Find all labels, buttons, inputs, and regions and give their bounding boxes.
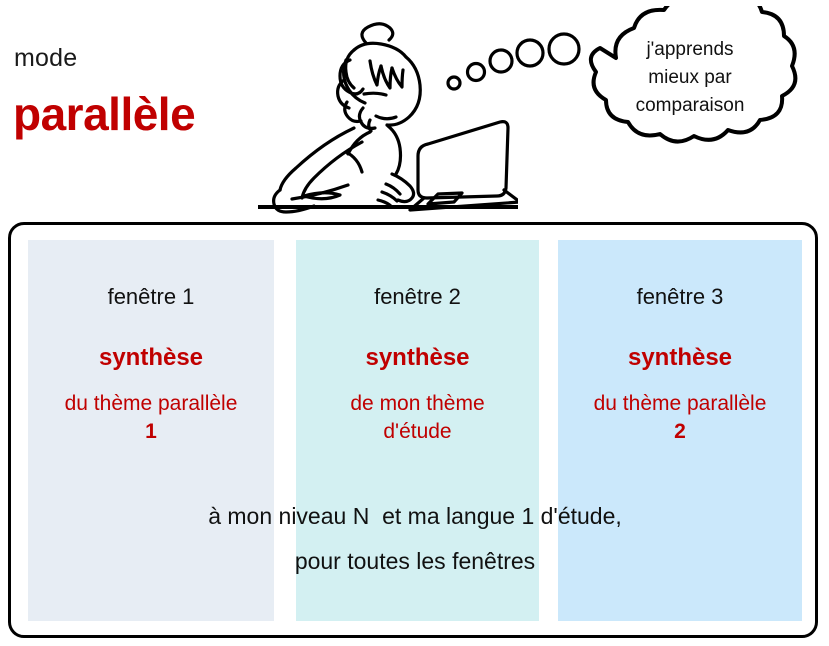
window-2-subtitle-line: de mon thème [296,390,539,418]
window-panel-2[interactable]: fenêtre 2 synthèse de mon thème d'étude [296,240,539,621]
slide-root: mode parallèle [0,0,829,646]
window-3-subtitle-line: du thème parallèle [558,390,802,418]
thought-line-1: j'apprends [600,36,780,64]
window-1-subtitle-line: du thème parallèle [28,390,274,418]
window-1-title: fenêtre 1 [28,284,274,310]
window-3-synthese: synthèse [558,344,802,372]
thought-line-3: comparaison [600,92,780,120]
window-2-synthese: synthèse [296,344,539,372]
window-panel-1[interactable]: fenêtre 1 synthèse du thème parallèle 1 [28,240,274,621]
window-2-subtitle: de mon thème d'étude [296,390,539,445]
window-3-subtitle: du thème parallèle 2 [558,390,802,445]
window-1-number: 1 [28,418,274,446]
window-1-subtitle: du thème parallèle 1 [28,390,274,445]
mode-label: mode [14,44,77,73]
thought-line-2: mieux par [600,64,780,92]
window-2-title: fenêtre 2 [296,284,539,310]
window-1-synthese: synthèse [28,344,274,372]
window-3-title: fenêtre 3 [558,284,802,310]
page-title: parallèle [13,91,195,137]
window-panel-3[interactable]: fenêtre 3 synthèse du thème parallèle 2 [558,240,802,621]
window-2-number: d'étude [296,418,539,446]
window-3-number: 2 [558,418,802,446]
thought-bubble-text: j'apprends mieux par comparaison [600,36,780,120]
